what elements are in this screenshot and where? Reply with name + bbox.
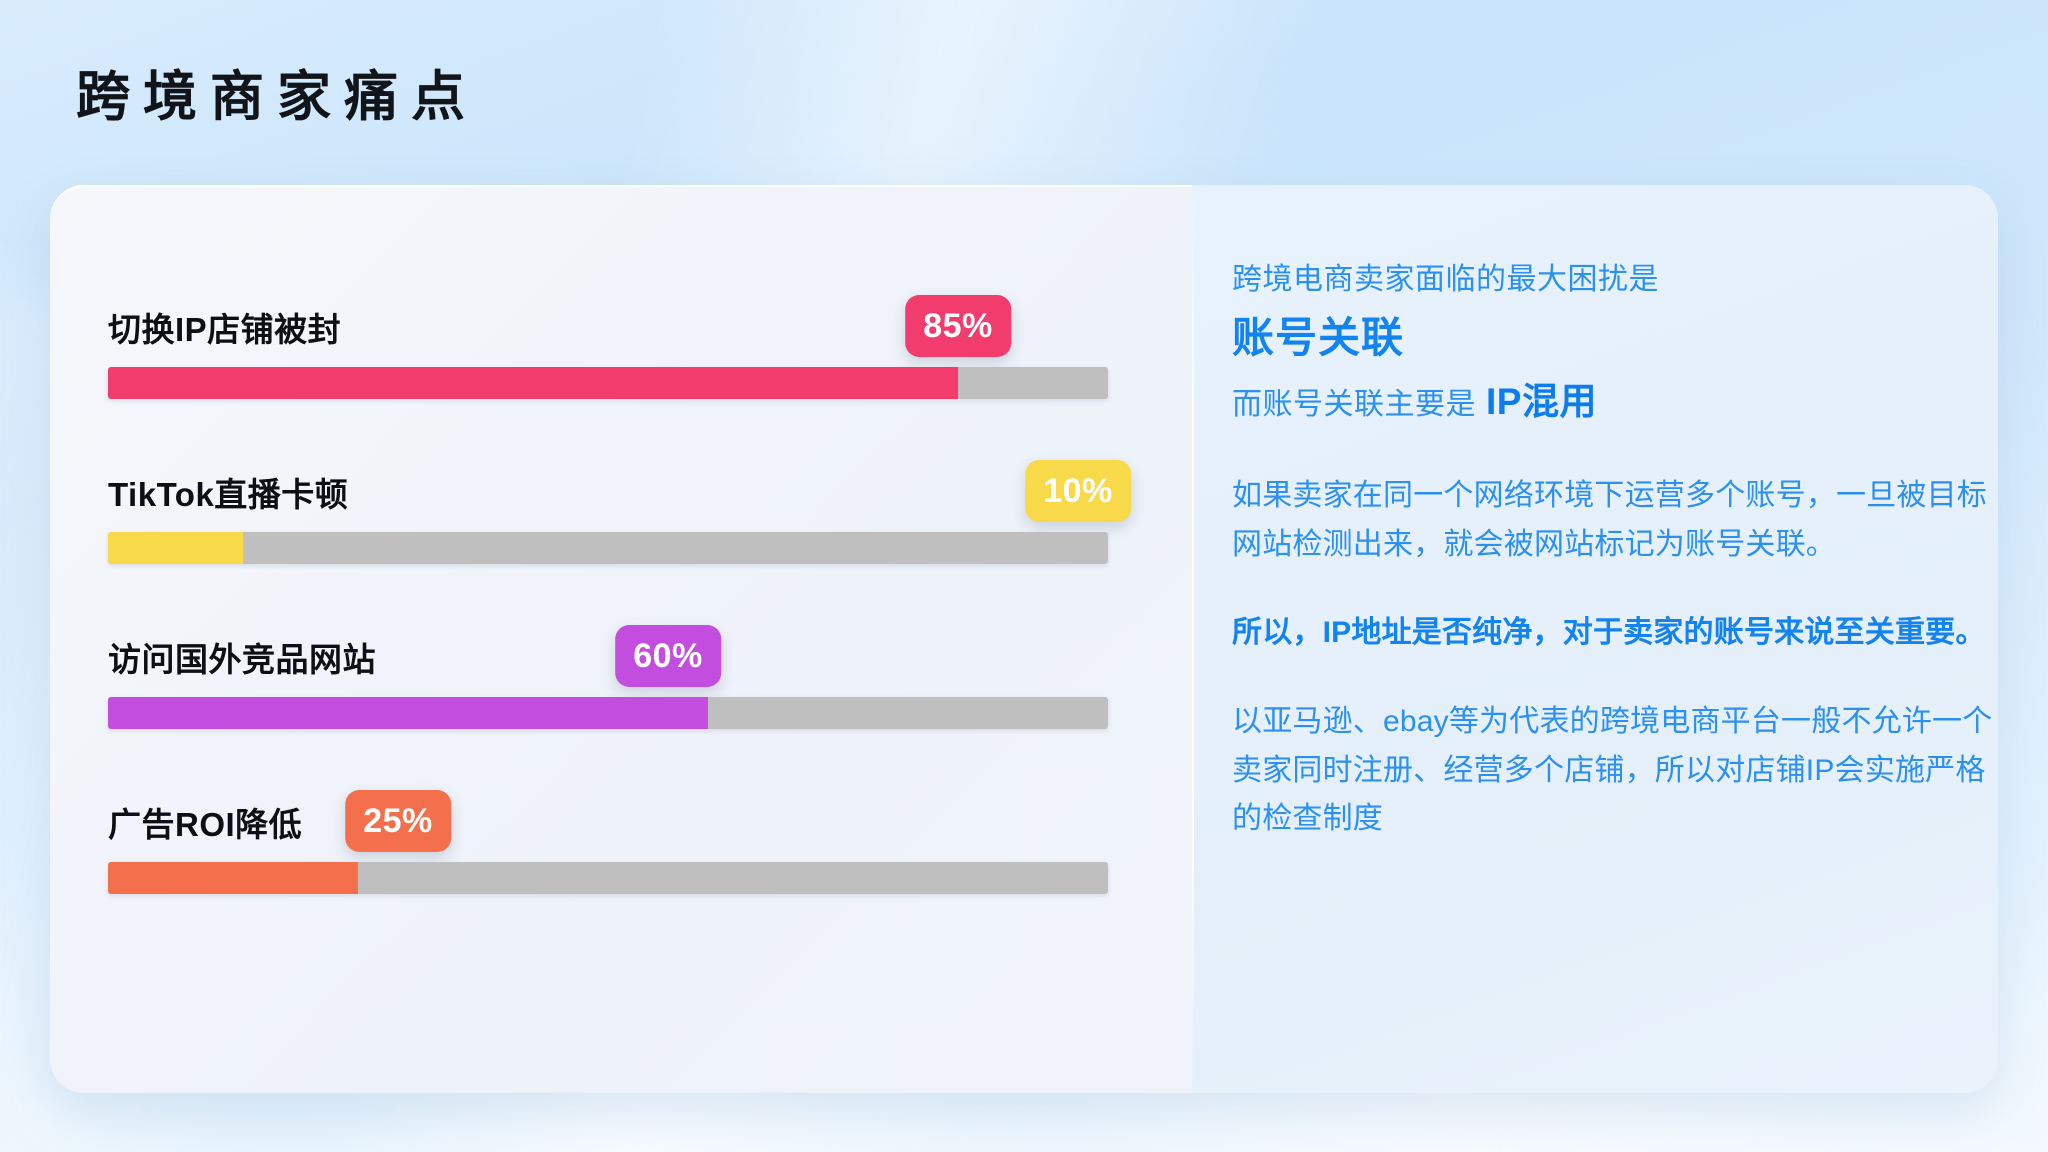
hero-keyword: 账号关联 [1232,312,1998,365]
bar-header: 访问国外竞品网站 60% [108,615,1108,687]
bar-fill [108,862,358,894]
bar-row: 访问国外竞品网站 60% [108,615,1108,729]
bar-label: TikTok直播卡顿 [108,468,348,516]
content-card: 切换IP店铺被封 85% TikTok直播卡顿 10% 访问国外竞品网站 60% [50,185,1998,1093]
bar-track [108,367,1108,399]
bar-value-badge: 10% [1025,460,1131,522]
bar-value-badge: 85% [905,295,1011,357]
pain-point-chart: 切换IP店铺被封 85% TikTok直播卡顿 10% 访问国外竞品网站 60% [50,185,1192,1093]
lead-text: 跨境电商卖家面临的最大困扰是 [1232,257,1998,302]
bar-header: TikTok直播卡顿 10% [108,450,1108,522]
page-title: 跨境商家痛点 [76,68,478,127]
bar-value-badge: 25% [345,790,451,852]
bar-track [108,532,1108,564]
bar-fill [108,532,243,564]
bar-label: 广告ROI降低 [108,798,302,846]
bar-row: 广告ROI降低 25% [108,780,1108,894]
sub-line-prefix: 而账号关联主要是 [1232,388,1476,421]
paragraph-2: 所以，IP地址是否纯净，对于卖家的账号来说至关重要。 [1232,609,1998,658]
paragraph-3: 以亚马逊、ebay等为代表的跨境电商平台一般不允许一个卖家同时注册、经营多个店铺… [1232,698,1998,844]
bar-track [108,862,1108,894]
bar-fill [108,697,708,729]
bar-row: 切换IP店铺被封 85% [108,285,1108,399]
bar-label: 访问国外竞品网站 [108,633,376,681]
paragraph-1: 如果卖家在同一个网络环境下运营多个账号，一旦被目标网站检测出来，就会被网站标记为… [1232,472,1998,569]
bar-header: 切换IP店铺被封 85% [108,285,1108,357]
sub-line: 而账号关联主要是IP混用 [1232,375,1998,429]
bar-header: 广告ROI降低 25% [108,780,1108,852]
bar-row: TikTok直播卡顿 10% [108,450,1108,564]
bar-fill [108,367,958,399]
sub-line-keyword: IP混用 [1486,381,1597,422]
explanation-panel: 跨境电商卖家面临的最大困扰是 账号关联 而账号关联主要是IP混用 如果卖家在同一… [1192,185,1998,1093]
bar-label: 切换IP店铺被封 [108,303,341,351]
bar-track [108,697,1108,729]
bar-value-badge: 60% [615,625,721,687]
